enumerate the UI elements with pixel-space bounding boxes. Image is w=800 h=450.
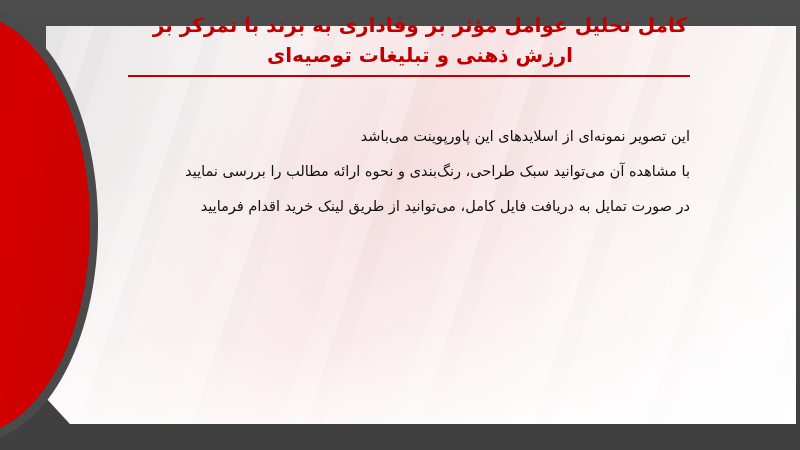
slide-content-panel — [46, 26, 796, 424]
slide-body-text: این تصویر نمونه‌ای از اسلایدهای این پاور… — [110, 120, 690, 225]
body-text-line-1: این تصویر نمونه‌ای از اسلایدهای این پاور… — [110, 120, 690, 155]
slide-canvas: کامل تحلیل عوامل مؤثر بر وفاداری به برند… — [0, 0, 800, 450]
body-text-line-3: در صورت تمایل به دریافت فایل کامل، می‌تو… — [110, 190, 690, 225]
body-text-line-2: با مشاهده آن می‌توانید سبک طراحی، رنگ‌بن… — [110, 155, 690, 190]
slide-title-line-2: ارزش ذهنی و تبلیغات توصیه‌ای — [70, 40, 770, 70]
slide-title-line-1: کامل تحلیل عوامل مؤثر بر وفاداری به برند… — [70, 10, 770, 40]
title-underline-rule — [128, 75, 690, 77]
slide-title: کامل تحلیل عوامل مؤثر بر وفاداری به برند… — [70, 10, 770, 70]
